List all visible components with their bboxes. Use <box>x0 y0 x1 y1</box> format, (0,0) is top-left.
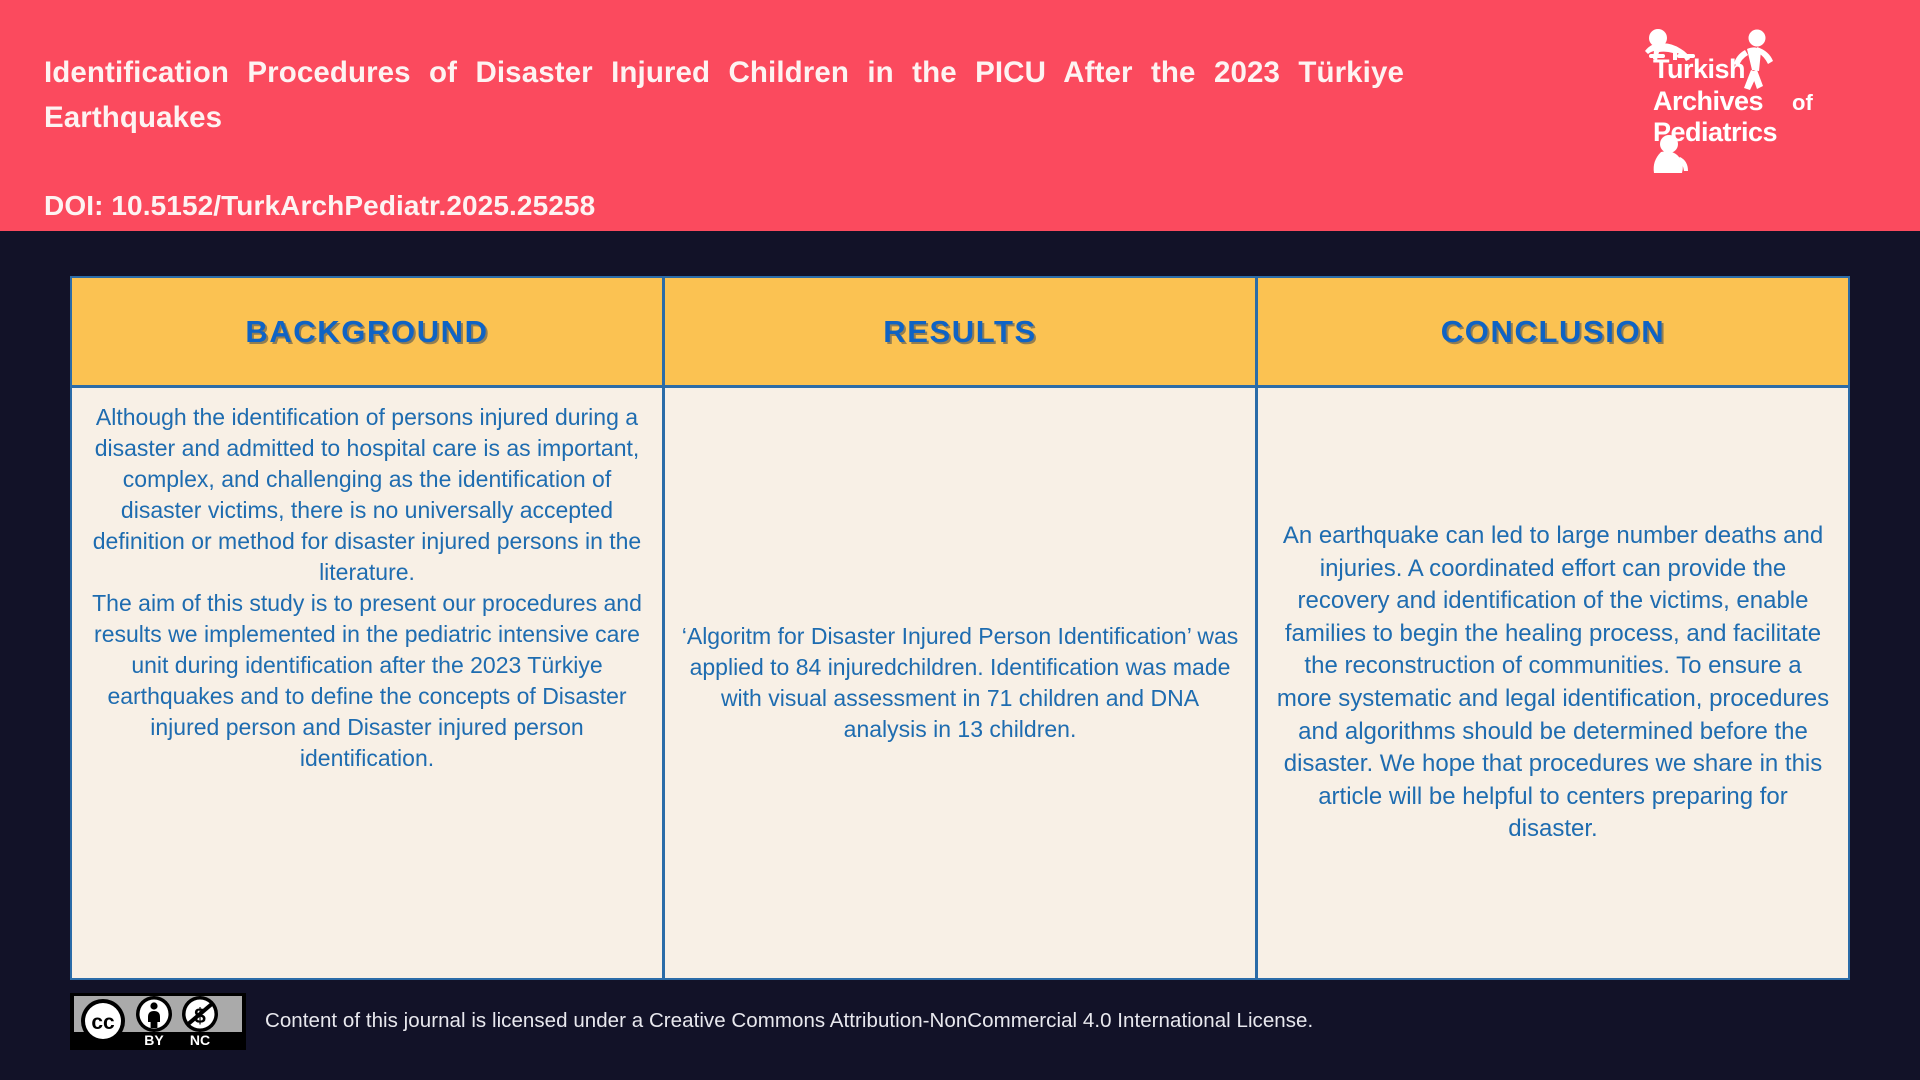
logo-line-2-suffix: of <box>1792 90 1813 115</box>
table-header-label: BACKGROUND <box>245 314 488 350</box>
results-text: ‘Algoritm for Disaster Injured Person Id… <box>681 621 1239 745</box>
table-header-background: BACKGROUND <box>72 278 665 388</box>
table-cell-background: Although the identification of persons i… <box>72 388 665 978</box>
table-cell-conclusion: An earthquake can led to large number de… <box>1258 388 1848 978</box>
table-header-conclusion: CONCLUSION <box>1258 278 1848 388</box>
attribution-icon <box>136 996 172 1032</box>
table-header-label: RESULTS <box>883 314 1037 350</box>
license-statement: Content of this journal is licensed unde… <box>265 1009 1313 1033</box>
doi-text: DOI: 10.5152/TurkArchPediatr.2025.25258 <box>44 190 595 222</box>
creative-commons-badge[interactable]: cc $ BY NC <box>70 993 246 1050</box>
table-cell-results: ‘Algoritm for Disaster Injured Person Id… <box>665 388 1258 978</box>
logo-line-1: Turkish <box>1653 54 1745 84</box>
creative-commons-icon: cc <box>81 999 125 1043</box>
journal-logo: Turkish Archives of Pediatrics <box>1635 26 1865 181</box>
background-text: Although the identification of persons i… <box>88 402 646 774</box>
svg-text:cc: cc <box>91 1011 115 1034</box>
conclusion-text: An earthquake can led to large number de… <box>1274 520 1832 846</box>
cc-by-label: BY <box>144 1032 164 1048</box>
logo-line-2: Archives <box>1653 86 1763 116</box>
table-header-results: RESULTS <box>665 278 1258 388</box>
license-footer: cc $ BY NC Content of this journal is li… <box>70 990 1850 1052</box>
table-header-row: BACKGROUND RESULTS CONCLUSION <box>72 278 1848 388</box>
article-banner: Identification Procedures of Disaster In… <box>0 0 1920 231</box>
noncommercial-icon: $ <box>182 996 218 1032</box>
summary-table: BACKGROUND RESULTS CONCLUSION Although t… <box>70 276 1850 980</box>
logo-line-3: Pediatrics <box>1653 117 1777 147</box>
page-title: Identification Procedures of Disaster In… <box>44 50 1404 140</box>
table-header-label: CONCLUSION <box>1441 314 1665 350</box>
table-body-row: Although the identification of persons i… <box>72 388 1848 978</box>
cc-nc-label: NC <box>190 1032 210 1048</box>
